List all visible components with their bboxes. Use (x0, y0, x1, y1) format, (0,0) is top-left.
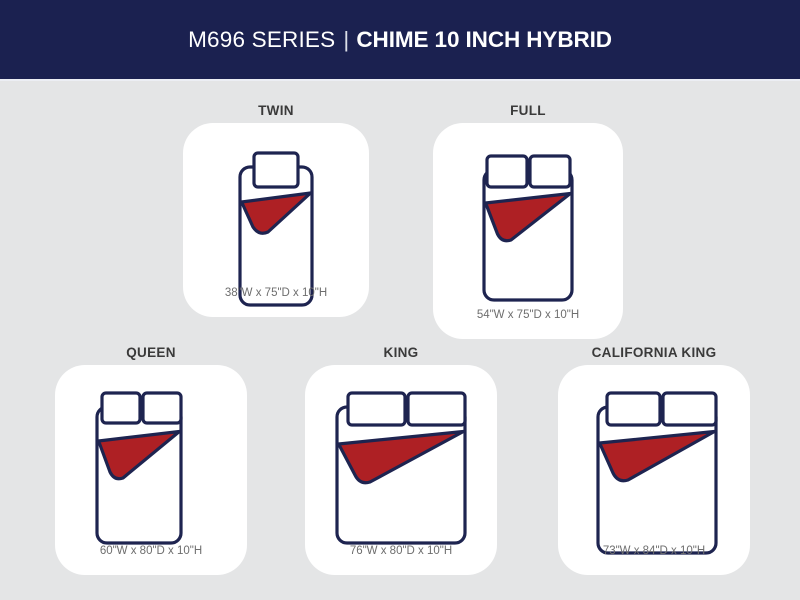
pillow-icon-right (143, 393, 181, 423)
size-card-queen[interactable]: 60"W x 80"D x 10"H (55, 365, 247, 575)
dimensions-twin: 38"W x 75"D x 10"H (183, 287, 369, 299)
model-label: CHIME 10 INCH HYBRID (356, 27, 612, 53)
page-title: M696 SERIES | CHIME 10 INCH HYBRID (188, 27, 612, 53)
size-card-king[interactable]: 76"W x 80"D x 10"H (305, 365, 497, 575)
size-cell-california-king[interactable]: CALIFORNIA KING 73"W x 84"D x 10"H (558, 345, 750, 575)
bed-diagram-full (433, 123, 623, 339)
pillow-icon (254, 153, 298, 187)
size-label-full: FULL (433, 103, 623, 118)
dimensions-california-king: 73"W x 84"D x 10"H (558, 545, 750, 557)
size-card-twin[interactable]: 38"W x 75"D x 10"H (183, 123, 369, 317)
bed-diagram-california-king (558, 365, 750, 575)
pillow-icon-right (408, 393, 465, 425)
size-cell-king[interactable]: KING 76"W x 80"D x 10"H (305, 345, 497, 575)
size-card-california-king[interactable]: 73"W x 84"D x 10"H (558, 365, 750, 575)
pillow-icon-left (102, 393, 140, 423)
dimensions-full: 54"W x 75"D x 10"H (433, 309, 623, 321)
dimensions-king: 76"W x 80"D x 10"H (305, 545, 497, 557)
size-label-king: KING (305, 345, 497, 360)
size-cell-full[interactable]: FULL 54"W x 75"D x 10"H (433, 103, 623, 339)
pillow-icon-left (607, 393, 660, 425)
header-bar: M696 SERIES | CHIME 10 INCH HYBRID (0, 0, 800, 79)
pillow-icon-right (530, 156, 570, 187)
bed-diagram-king (305, 365, 497, 575)
bed-diagram-queen (55, 365, 247, 575)
size-label-california-king: CALIFORNIA KING (558, 345, 750, 360)
dimensions-queen: 60"W x 80"D x 10"H (55, 545, 247, 557)
size-cell-queen[interactable]: QUEEN 60"W x 80"D x 10"H (55, 345, 247, 575)
mattress-outline (598, 407, 716, 553)
mattress-outline (97, 407, 181, 543)
header-underline-divider (0, 79, 800, 81)
pillow-icon-left (348, 393, 405, 425)
size-label-twin: TWIN (183, 103, 369, 118)
pillow-icon-left (487, 156, 527, 187)
title-separator: | (335, 27, 356, 53)
pillow-icon-right (663, 393, 716, 425)
series-label: M696 SERIES (188, 27, 335, 53)
size-label-queen: QUEEN (55, 345, 247, 360)
size-card-full[interactable]: 54"W x 75"D x 10"H (433, 123, 623, 339)
size-cell-twin[interactable]: TWIN 38"W x 75"D x 10"H (183, 103, 369, 317)
